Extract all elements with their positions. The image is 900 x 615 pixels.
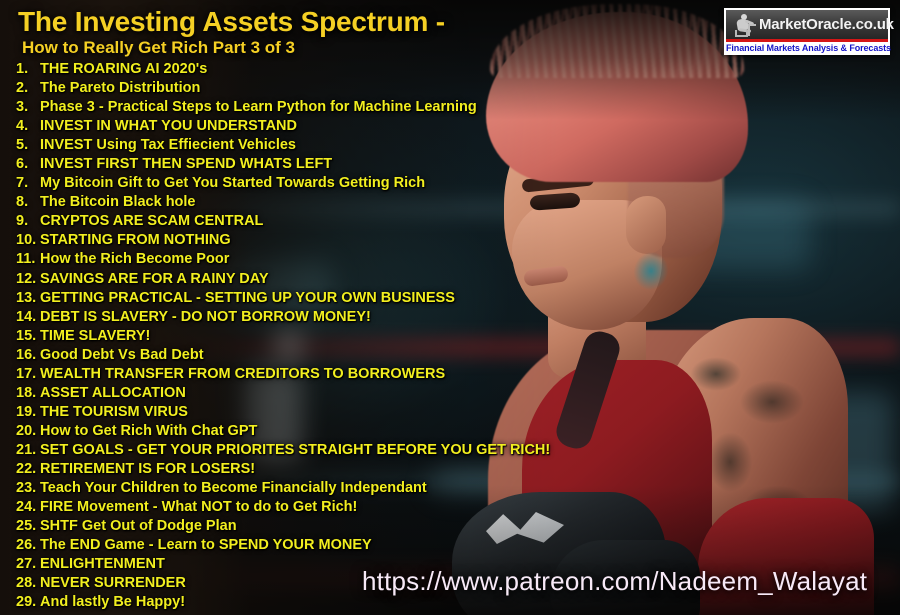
- list-item-label: Teach Your Children to Become Financiall…: [40, 480, 427, 496]
- list-item-number: 25.: [16, 517, 40, 536]
- page-title: The Investing Assets Spectrum -: [18, 6, 445, 38]
- list-item[interactable]: 11.How the Rich Become Poor: [16, 250, 876, 269]
- list-item[interactable]: 10.STARTING FROM NOTHING: [16, 231, 876, 250]
- list-item-label: CRYPTOS ARE SCAM CENTRAL: [40, 213, 263, 229]
- list-item-number: 27.: [16, 555, 40, 574]
- list-item[interactable]: 15.TIME SLAVERY!: [16, 327, 876, 346]
- list-item-label: STARTING FROM NOTHING: [40, 232, 231, 248]
- list-item-label: INVEST IN WHAT YOU UNDERSTAND: [40, 118, 297, 134]
- list-item[interactable]: 25.SHTF Get Out of Dodge Plan: [16, 517, 876, 536]
- list-item-label: TIME SLAVERY!: [40, 328, 150, 344]
- list-item-number: 29.: [16, 593, 40, 612]
- list-item-label: SHTF Get Out of Dodge Plan: [40, 518, 237, 534]
- marketoracle-logo[interactable]: MarketOracle.co.uk Financial Markets Ana…: [724, 8, 890, 55]
- list-item[interactable]: 1.THE ROARING AI 2020's: [16, 60, 876, 79]
- list-item-number: 3.: [16, 98, 40, 117]
- list-item-label: FIRE Movement - What NOT to do to Get Ri…: [40, 499, 357, 515]
- list-item[interactable]: 8.The Bitcoin Black hole: [16, 193, 876, 212]
- list-item[interactable]: 3.Phase 3 - Practical Steps to Learn Pyt…: [16, 98, 876, 117]
- logo-name: MarketOracle.co.uk: [759, 16, 894, 33]
- list-item-number: 26.: [16, 536, 40, 555]
- list-item[interactable]: 12.SAVINGS ARE FOR A RAINY DAY: [16, 270, 876, 289]
- list-item[interactable]: 6.INVEST FIRST THEN SPEND WHATS LEFT: [16, 155, 876, 174]
- list-item[interactable]: 23.Teach Your Children to Become Financi…: [16, 479, 876, 498]
- list-item[interactable]: 9.CRYPTOS ARE SCAM CENTRAL: [16, 212, 876, 231]
- list-item-label: THE TOURISM VIRUS: [40, 404, 188, 420]
- list-item[interactable]: 24.FIRE Movement - What NOT to do to Get…: [16, 498, 876, 517]
- list-item-label: ASSET ALLOCATION: [40, 385, 186, 401]
- list-item-label: And lastly Be Happy!: [40, 594, 185, 610]
- poster-canvas: The Investing Assets Spectrum - How to R…: [0, 0, 900, 615]
- list-item-number: 28.: [16, 574, 40, 593]
- list-item-label: My Bitcoin Gift to Get You Started Towar…: [40, 175, 425, 191]
- list-item[interactable]: 7.My Bitcoin Gift to Get You Started Tow…: [16, 174, 876, 193]
- list-item[interactable]: 13.GETTING PRACTICAL - SETTING UP YOUR O…: [16, 289, 876, 308]
- contents-list: 1.THE ROARING AI 2020's2.The Pareto Dist…: [16, 60, 876, 612]
- list-item[interactable]: 14.DEBT IS SLAVERY - DO NOT BORROW MONEY…: [16, 308, 876, 327]
- list-item[interactable]: 2.The Pareto Distribution: [16, 79, 876, 98]
- list-item[interactable]: 16.Good Debt Vs Bad Debt: [16, 346, 876, 365]
- list-item-label: Phase 3 - Practical Steps to Learn Pytho…: [40, 99, 477, 115]
- list-item-number: 21.: [16, 441, 40, 460]
- list-item-number: 22.: [16, 460, 40, 479]
- list-item-label: SET GOALS - GET YOUR PRIORITES STRAIGHT …: [40, 442, 550, 458]
- logo-top-bar: MarketOracle.co.uk: [726, 10, 888, 39]
- list-item-label: WEALTH TRANSFER FROM CREDITORS TO BORROW…: [40, 366, 445, 382]
- list-item-label: The Bitcoin Black hole: [40, 194, 196, 210]
- patreon-url[interactable]: https://www.patreon.com/Nadeem_Walayat: [362, 566, 867, 597]
- list-item-number: 7.: [16, 174, 40, 193]
- logo-tagline: Financial Markets Analysis & Forecasts: [726, 42, 888, 55]
- list-item-number: 8.: [16, 193, 40, 212]
- list-item[interactable]: 17.WEALTH TRANSFER FROM CREDITORS TO BOR…: [16, 365, 876, 384]
- list-item-number: 16.: [16, 346, 40, 365]
- list-item-number: 19.: [16, 403, 40, 422]
- list-item-number: 23.: [16, 479, 40, 498]
- list-item-label: INVEST Using Tax Effiecient Vehicles: [40, 137, 296, 153]
- list-item-number: 10.: [16, 231, 40, 250]
- list-item-label: How to Get Rich With Chat GPT: [40, 423, 257, 439]
- list-item-number: 9.: [16, 212, 40, 231]
- list-item-label: RETIREMENT IS FOR LOSERS!: [40, 461, 255, 477]
- poster-content: The Investing Assets Spectrum - How to R…: [0, 0, 900, 615]
- list-item-number: 20.: [16, 422, 40, 441]
- list-item[interactable]: 18.ASSET ALLOCATION: [16, 384, 876, 403]
- list-item[interactable]: 19.THE TOURISM VIRUS: [16, 403, 876, 422]
- list-item-number: 24.: [16, 498, 40, 517]
- list-item-number: 18.: [16, 384, 40, 403]
- list-item-number: 4.: [16, 117, 40, 136]
- list-item-label: DEBT IS SLAVERY - DO NOT BORROW MONEY!: [40, 309, 371, 325]
- list-item[interactable]: 21.SET GOALS - GET YOUR PRIORITES STRAIG…: [16, 441, 876, 460]
- list-item-label: THE ROARING AI 2020's: [40, 61, 207, 77]
- list-item-label: How the Rich Become Poor: [40, 251, 229, 267]
- list-item-number: 2.: [16, 79, 40, 98]
- list-item[interactable]: 20.How to Get Rich With Chat GPT: [16, 422, 876, 441]
- list-item-label: The END Game - Learn to SPEND YOUR MONEY: [40, 537, 372, 553]
- list-item-number: 1.: [16, 60, 40, 79]
- list-item-number: 13.: [16, 289, 40, 308]
- list-item-label: INVEST FIRST THEN SPEND WHATS LEFT: [40, 156, 332, 172]
- list-item-label: GETTING PRACTICAL - SETTING UP YOUR OWN …: [40, 290, 455, 306]
- list-item-label: The Pareto Distribution: [40, 80, 200, 96]
- list-item[interactable]: 5.INVEST Using Tax Effiecient Vehicles: [16, 136, 876, 155]
- list-item-number: 11.: [16, 250, 40, 269]
- list-item-number: 15.: [16, 327, 40, 346]
- list-item-label: NEVER SURRENDER: [40, 575, 186, 591]
- page-subtitle: How to Really Get Rich Part 3 of 3: [22, 38, 295, 58]
- seated-oracle-figure-icon: [728, 11, 758, 38]
- list-item-number: 17.: [16, 365, 40, 384]
- list-item[interactable]: 26.The END Game - Learn to SPEND YOUR MO…: [16, 536, 876, 555]
- list-item-number: 6.: [16, 155, 40, 174]
- list-item-label: ENLIGHTENMENT: [40, 556, 165, 572]
- list-item[interactable]: 22.RETIREMENT IS FOR LOSERS!: [16, 460, 876, 479]
- list-item-label: SAVINGS ARE FOR A RAINY DAY: [40, 271, 269, 287]
- list-item-number: 12.: [16, 270, 40, 289]
- list-item-number: 14.: [16, 308, 40, 327]
- list-item-number: 5.: [16, 136, 40, 155]
- list-item[interactable]: 4.INVEST IN WHAT YOU UNDERSTAND: [16, 117, 876, 136]
- list-item-label: Good Debt Vs Bad Debt: [40, 347, 204, 363]
